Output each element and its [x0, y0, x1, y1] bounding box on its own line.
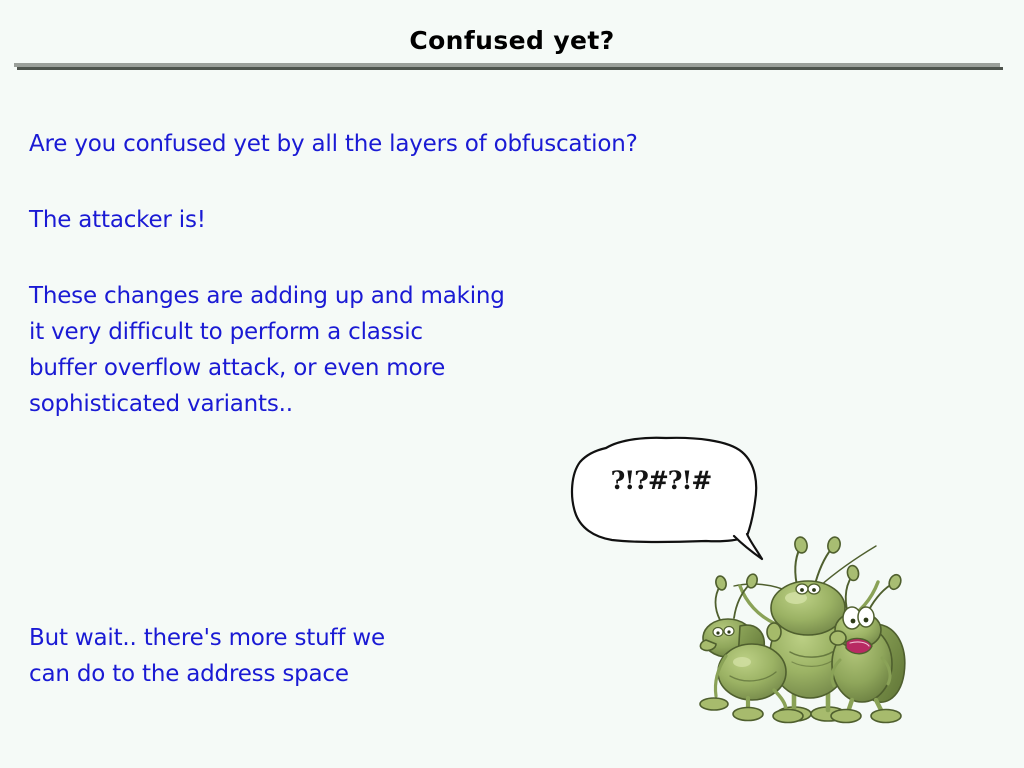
bug-illustration	[690, 528, 925, 728]
body-paragraph-1: Are you confused yet by all the layers o…	[29, 126, 638, 162]
three-bugs-graphic	[690, 528, 925, 728]
speech-bubble-text: ?!?#?!#	[566, 466, 756, 495]
title-divider-shadow	[17, 67, 1003, 70]
body-paragraph-2: The attacker is!	[29, 202, 206, 238]
title-divider	[14, 63, 1000, 67]
page-title: Confused yet?	[0, 26, 1024, 56]
slide-canvas: Confused yet? Are you confused yet by al…	[0, 0, 1024, 768]
bug-right	[830, 565, 905, 723]
body-paragraph-4: But wait.. there's more stuff we can do …	[29, 620, 385, 692]
body-paragraph-3: These changes are adding up and making i…	[29, 278, 505, 422]
